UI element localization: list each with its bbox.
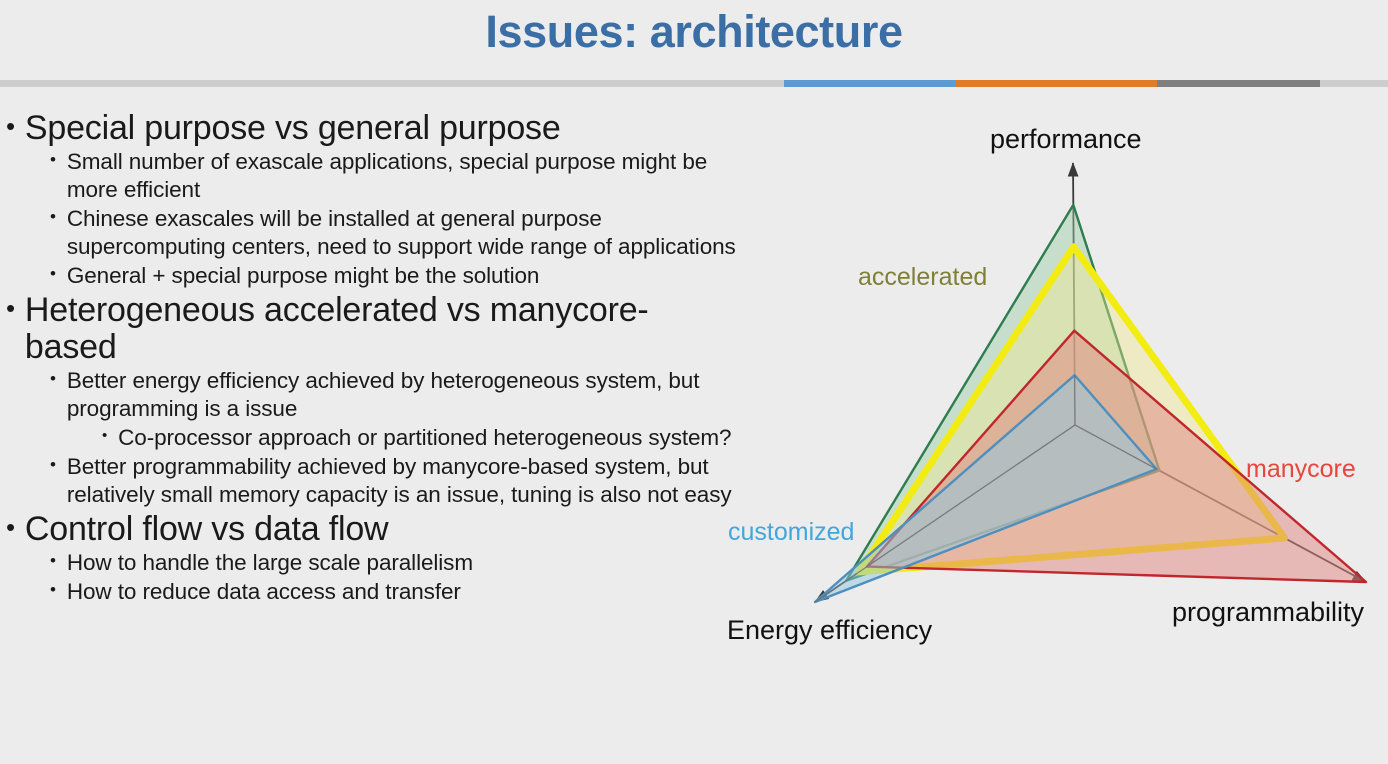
axis-label-performance: performance	[990, 124, 1142, 155]
bullet-text: Co-processor approach or partitioned het…	[118, 424, 736, 452]
bullet-dot-icon: •	[6, 511, 15, 544]
bullet-text: Better energy efficiency achieved by het…	[67, 367, 736, 423]
bullet-level2: • Better energy efficiency achieved by h…	[50, 367, 736, 423]
radar-chart-svg	[716, 104, 1388, 664]
bullet-level3: • Co-processor approach or partitioned h…	[102, 424, 736, 452]
divider-segment-orange	[956, 80, 1157, 87]
bullet-level2: • Chinese exascales will be installed at…	[50, 205, 736, 261]
bullet-dot-icon: •	[50, 148, 56, 173]
bullet-level2: • How to handle the large scale parallel…	[50, 549, 736, 577]
radar-chart	[716, 104, 1388, 664]
axis-label-programmability: programmability	[1172, 597, 1364, 628]
divider-segment-gray	[1157, 80, 1320, 87]
divider-segment-blue	[784, 80, 956, 87]
bullet-text: Heterogeneous accelerated vs manycore-ba…	[25, 292, 736, 365]
bullet-text: How to reduce data access and transfer	[67, 578, 736, 606]
bullet-text: Small number of exascale applications, s…	[67, 148, 736, 204]
bullet-text: Special purpose vs general purpose	[25, 110, 736, 147]
bullet-level1: • Heterogeneous accelerated vs manycore-…	[6, 292, 736, 365]
series-label-customized: customized	[728, 518, 854, 547]
bullet-dot-icon: •	[6, 110, 15, 143]
series-label-accelerated: accelerated	[858, 263, 987, 292]
series-label-manycore: manycore	[1246, 455, 1356, 484]
bullet-dot-icon: •	[50, 205, 56, 230]
bullet-level1: • Special purpose vs general purpose	[6, 110, 736, 147]
axis-label-energy-efficiency: Energy efficiency	[727, 615, 932, 646]
bullet-text: General + special purpose might be the s…	[67, 262, 736, 290]
bullet-text: Chinese exascales will be installed at g…	[67, 205, 736, 261]
bullet-dot-icon: •	[50, 453, 56, 478]
bullet-dot-icon: •	[102, 424, 107, 447]
bullet-level2: • Small number of exascale applications,…	[50, 148, 736, 204]
bullet-text: How to handle the large scale parallelis…	[67, 549, 736, 577]
bullet-dot-icon: •	[6, 292, 15, 325]
slide-root: Issues: architecture • Special purpose v…	[0, 0, 1388, 764]
bullet-level1: • Control flow vs data flow	[6, 511, 736, 548]
bullet-dot-icon: •	[50, 367, 56, 392]
bullet-dot-icon: •	[50, 578, 56, 603]
title-area: Issues: architecture	[0, 0, 1388, 78]
page-title: Issues: architecture	[0, 6, 1388, 58]
bullet-dot-icon: •	[50, 262, 56, 287]
bullet-text: Better programmability achieved by manyc…	[67, 453, 736, 509]
bullet-text: Control flow vs data flow	[25, 511, 736, 548]
bullet-list: • Special purpose vs general purpose • S…	[6, 108, 736, 606]
bullet-level2: • Better programmability achieved by man…	[50, 453, 736, 509]
bullet-dot-icon: •	[50, 549, 56, 574]
bullet-level2: • How to reduce data access and transfer	[50, 578, 736, 606]
bullet-level2: • General + special purpose might be the…	[50, 262, 736, 290]
